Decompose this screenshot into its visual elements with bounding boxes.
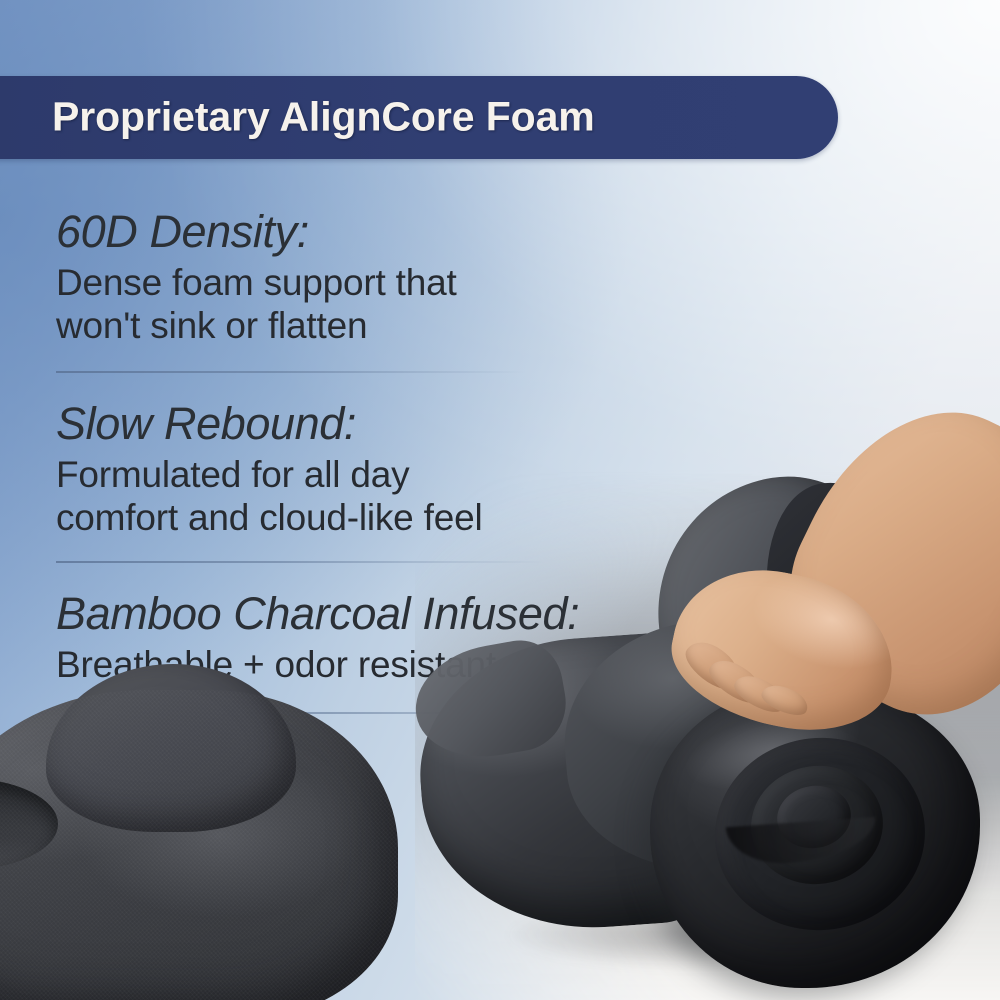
feature-divider — [56, 371, 526, 373]
page-title: Proprietary AlignCore Foam — [52, 93, 595, 140]
title-banner: Proprietary AlignCore Foam — [0, 76, 838, 159]
product-infographic: Proprietary AlignCore Foam 60D Density: … — [0, 0, 1000, 1000]
feature-heading: 60D Density: — [56, 205, 736, 259]
feature-item-density: 60D Density: Dense foam support that won… — [56, 205, 736, 373]
fabric-cushion-photo — [0, 690, 398, 1000]
feature-heading: Slow Rebound: — [56, 397, 736, 451]
rolled-foam-photo — [415, 470, 1000, 1000]
feature-body: Dense foam support that won't sink or fl… — [56, 261, 736, 347]
